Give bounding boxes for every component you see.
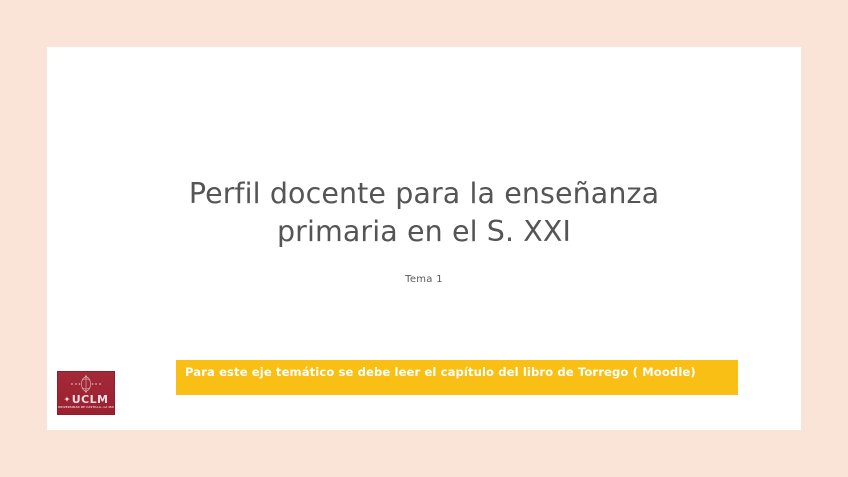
slide-subtitle: Tema 1	[117, 274, 731, 285]
notice-banner-text: Para este eje temático se debe leer el c…	[185, 365, 729, 380]
page-title: Perfil docente para la enseñanza primari…	[117, 175, 731, 250]
uclm-wordmark: ✦UCLM	[58, 394, 114, 406]
notice-banner: Para este eje temático se debe leer el c…	[176, 360, 738, 395]
title-block: Perfil docente para la enseñanza primari…	[117, 175, 731, 250]
presentation-slide: Perfil docente para la enseñanza primari…	[47, 47, 801, 430]
uclm-mark-icon: ✦	[64, 395, 71, 404]
uclm-logo: ✦UCLM UNIVERSIDAD DE CASTILLA~LA MANCHA	[57, 371, 115, 415]
uclm-wordmark-text: UCLM	[72, 393, 109, 406]
crest-icon	[58, 374, 114, 394]
uclm-tagline: UNIVERSIDAD DE CASTILLA~LA MANCHA	[58, 406, 114, 410]
slide-canvas: Perfil docente para la enseñanza primari…	[0, 0, 848, 477]
